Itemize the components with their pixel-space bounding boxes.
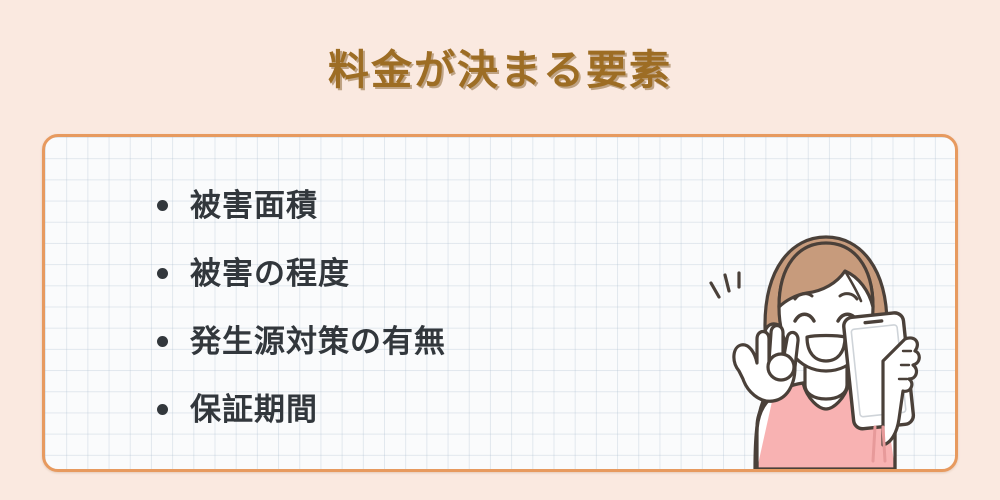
list-item-label: 発生源対策の有無 bbox=[190, 326, 446, 357]
list-item: 被害の程度 bbox=[157, 239, 446, 307]
bullet-icon bbox=[157, 200, 168, 211]
bullet-icon bbox=[157, 268, 168, 279]
list-item-label: 保証期間 bbox=[190, 394, 318, 425]
list-item-label: 被害の程度 bbox=[190, 258, 350, 289]
list-item: 保証期間 bbox=[157, 375, 446, 443]
list-item: 発生源対策の有無 bbox=[157, 307, 446, 375]
smiling-woman-with-smartphone-icon bbox=[699, 221, 929, 469]
list-item-label: 被害面積 bbox=[190, 190, 318, 221]
list-item: 被害面積 bbox=[157, 171, 446, 239]
smiling-woman-illustration bbox=[699, 221, 929, 469]
bullet-icon bbox=[157, 336, 168, 347]
page-title: 料金が決まる要素 bbox=[0, 36, 1000, 96]
factors-list: 被害面積 被害の程度 発生源対策の有無 保証期間 bbox=[157, 171, 446, 443]
bullet-icon bbox=[157, 404, 168, 415]
content-card: 被害面積 被害の程度 発生源対策の有無 保証期間 bbox=[42, 134, 958, 472]
